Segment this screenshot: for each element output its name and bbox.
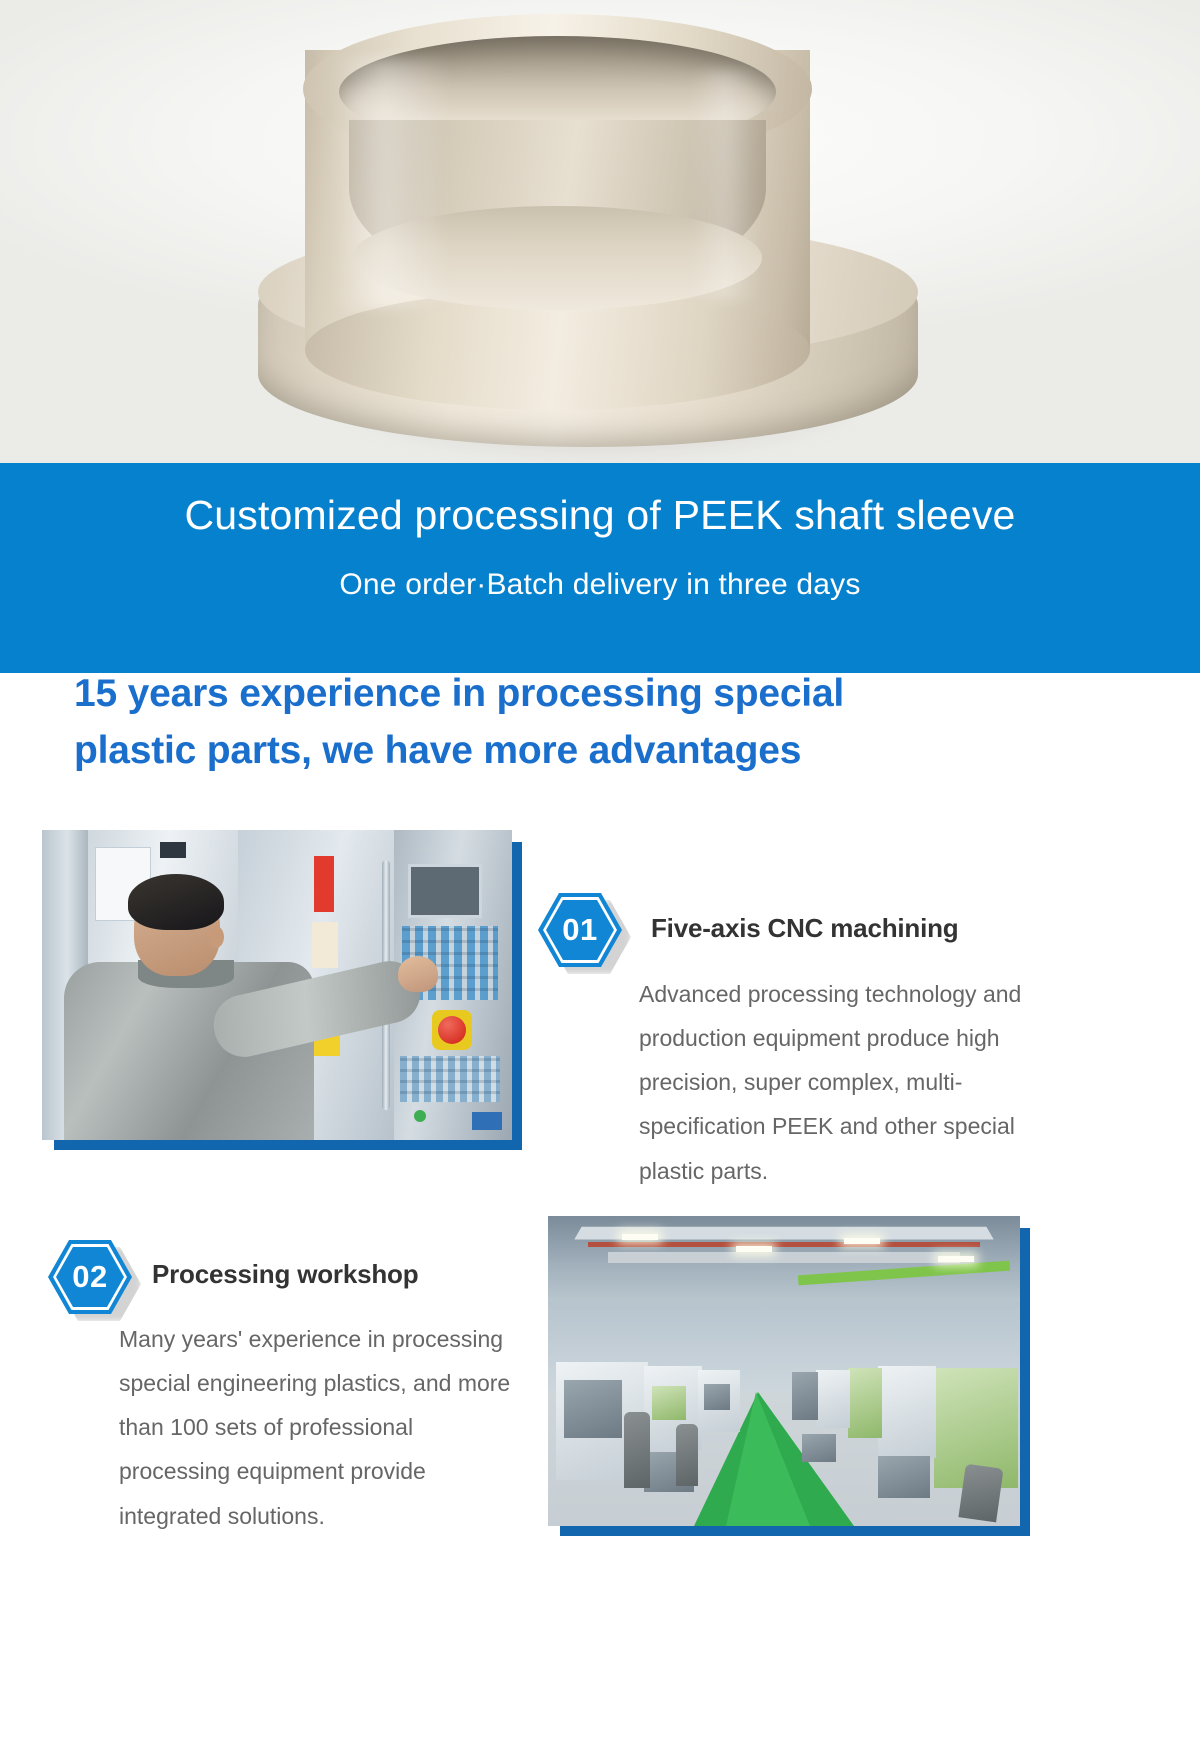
card-02-badge-number: 02 [48,1240,132,1314]
card-01-body: Advanced processing technology and produ… [639,972,1079,1193]
card-02-photo-workshop [548,1216,1020,1526]
card-01-badge-number: 01 [538,893,622,967]
product-highlight-right [690,70,760,300]
card-02-number-badge: 02 [48,1240,132,1314]
card-02-image-frame [548,1216,1030,1536]
section-heading-line-2: plastic parts, we have more advantages [74,723,1074,780]
section-heading-line-1: 15 years experience in processing specia… [74,666,1074,723]
card-02-frame-shadow-right [1020,1228,1030,1536]
card-02-title: Processing workshop [152,1259,418,1290]
card-01-title: Five-axis CNC machining [651,913,958,944]
section-heading: 15 years experience in processing specia… [74,666,1074,779]
card-02-body: Many years' experience in processing spe… [119,1317,529,1538]
banner-title: Customized processing of PEEK shaft slee… [0,492,1200,539]
card-01-frame-shadow-bottom [54,1140,522,1150]
product-highlight-left [330,58,450,308]
card-01-frame-shadow-right [512,842,522,1150]
hero-product-image [0,0,1200,463]
card-01-number-badge: 01 [538,893,622,967]
card-01-photo-cnc-operator [42,830,512,1140]
hero-banner: Customized processing of PEEK shaft slee… [0,463,1200,673]
card-01-image-frame [42,830,522,1150]
card-02-frame-shadow-bottom [560,1526,1030,1536]
banner-subtitle: One order·Batch delivery in three days [0,568,1200,602]
